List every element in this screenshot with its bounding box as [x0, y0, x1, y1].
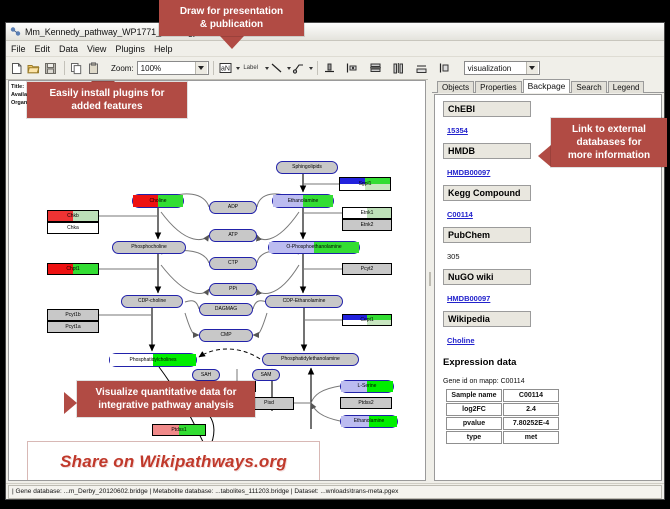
- share-banner: Share on Wikipathways.org: [27, 441, 320, 481]
- table-cell-key: type: [446, 431, 502, 444]
- db-link-nugowiki[interactable]: HMDB00097: [447, 294, 490, 303]
- toolbar-separator: [317, 61, 318, 75]
- pathway-node-ethanolamine_top[interactable]: Ethanolamine: [272, 194, 334, 208]
- pathway-node-label: Cept1: [360, 318, 373, 323]
- table-row: pvalue 7.80252E-4: [446, 417, 559, 430]
- pathway-node-ethanolamine_right[interactable]: Ethanolamine: [340, 415, 398, 428]
- pathway-node-label: Chpt1: [66, 267, 79, 272]
- pathway-node-label: SAH: [201, 373, 211, 378]
- callout-draw: Draw for presentation & publication: [159, 0, 304, 36]
- window-titlebar: Mm_Kennedy_pathway_WP1771_45176.gpml: [6, 23, 664, 41]
- pathway-node-o_phosphoethanolamine[interactable]: O-Phosphoethanolamine: [268, 241, 360, 254]
- toolbar-separator: [213, 61, 214, 75]
- copy-icon[interactable]: [69, 60, 84, 76]
- pathway-node-label: ADP: [228, 205, 238, 210]
- pathway-node-etnk2[interactable]: Etnk2: [342, 219, 392, 231]
- pathway-node-label: Sphingolipids: [292, 165, 322, 170]
- pathway-node-label: Pcyt1a: [65, 325, 80, 330]
- visualization-combo[interactable]: visualization: [464, 61, 540, 75]
- common-height-icon[interactable]: [437, 60, 452, 76]
- pathway-node-sah[interactable]: SAH: [192, 369, 220, 381]
- pathway-node-label: Chkb: [67, 214, 79, 219]
- callout-link-line2: databases for: [559, 136, 659, 149]
- pathway-node-label: Ptdss1: [171, 428, 186, 433]
- tab-objects[interactable]: Objects: [437, 81, 474, 93]
- side-panel-tabs: Objects Properties Backpage Search Legen…: [432, 78, 664, 93]
- stack-vertical-icon[interactable]: [368, 60, 383, 76]
- pathway-node-label: Etnk1: [361, 211, 374, 216]
- pathway-node-chka[interactable]: Chka: [47, 222, 99, 234]
- table-row: log2FC 2.4: [446, 403, 559, 416]
- table-cell-key: pvalue: [446, 417, 502, 430]
- common-width-icon[interactable]: [414, 60, 429, 76]
- pathway-canvas[interactable]: Title: Availab Organis: [8, 80, 426, 481]
- table-row: Sample name C00114: [446, 389, 559, 402]
- menu-view[interactable]: View: [87, 44, 106, 54]
- db-header-chebi: ChEBI: [443, 101, 531, 117]
- pathway-node-dagmag[interactable]: DAGMAG: [199, 303, 253, 316]
- db-link-chebi[interactable]: 15354: [447, 126, 468, 135]
- pathway-node-label: Sgpl1: [359, 182, 372, 187]
- new-document-icon[interactable]: [9, 60, 24, 76]
- callout-link: Link to external databases for more info…: [551, 118, 667, 167]
- callout-draw-line2: & publication: [167, 18, 296, 31]
- pathway-node-label: Chka: [67, 226, 79, 231]
- gene-id-line: Gene id on mapp: C00114: [443, 378, 661, 385]
- toolbar: Zoom: 100% aN Label: [6, 57, 664, 80]
- panel-splitter[interactable]: [428, 78, 432, 483]
- tab-search[interactable]: Search: [571, 81, 606, 93]
- table-cell-key: Sample name: [446, 389, 502, 402]
- datanode-icon[interactable]: aN: [218, 60, 233, 76]
- pathway-node-chpt1[interactable]: Chpt1: [47, 263, 99, 275]
- chevron-down-icon[interactable]: [195, 62, 207, 74]
- callout-visualize-line2: integrative pathway analysis: [85, 399, 247, 412]
- pathway-node-label: Phosphatidylethanolamine: [281, 357, 340, 362]
- floppy-disk-icon[interactable]: [43, 60, 58, 76]
- db-header-wikipedia: Wikipedia: [443, 311, 531, 327]
- table-cell-value: 2.4: [503, 403, 559, 416]
- table-row: type met: [446, 431, 559, 444]
- pathway-node-label: Pisd: [264, 401, 274, 406]
- pathway-node-label: Ethanolamine: [354, 419, 385, 424]
- tab-backpage[interactable]: Backpage: [523, 79, 571, 93]
- pathway-node-sphingolipids[interactable]: Sphingolipids: [276, 161, 338, 174]
- interaction-icon[interactable]: [291, 60, 306, 76]
- menu-data[interactable]: Data: [59, 44, 78, 54]
- statusbar-text: | Gene database: ...m_Derby_20120602.bri…: [8, 485, 662, 499]
- db-header-nugowiki: NuGO wiki: [443, 269, 531, 285]
- table-cell-value: 7.80252E-4: [503, 417, 559, 430]
- callout-link-line3: more information: [559, 149, 659, 162]
- pathway-node-label: Pcyt1b: [65, 313, 80, 318]
- pathway-node-cdp_choline[interactable]: CDP-choline: [121, 295, 183, 308]
- pathway-node-label: CDP-Ethanolamine: [283, 299, 326, 304]
- pathway-node-label: CTP: [228, 261, 238, 266]
- pathway-node-etnk1[interactable]: Etnk1: [342, 207, 392, 219]
- menu-file[interactable]: File: [11, 44, 26, 54]
- interaction-dropdown-icon[interactable]: [309, 67, 313, 70]
- stack-horizontal-icon[interactable]: [391, 60, 406, 76]
- pathway-node-sam[interactable]: SAM: [252, 369, 280, 381]
- pathway-node-label: L-Serine: [358, 384, 377, 389]
- pathway-node-label: Choline: [150, 199, 167, 204]
- chevron-down-icon[interactable]: [526, 62, 538, 74]
- menubar: File Edit Data View Plugins Help: [6, 41, 664, 57]
- pathway-node-label: O-Phosphoethanolamine: [286, 245, 341, 250]
- db-link-hmdb[interactable]: HMDB00097: [447, 168, 490, 177]
- db-value-pubchem: 305: [447, 252, 460, 261]
- pathway-node-label: CMP: [220, 333, 231, 338]
- pathway-node-label: Phosphatidylcholines: [130, 358, 177, 363]
- callout-plugins-line2: added features: [35, 100, 179, 113]
- menu-help[interactable]: Help: [154, 44, 173, 54]
- db-link-kegg[interactable]: C00114: [447, 210, 473, 219]
- pathway-node-pcyt1a[interactable]: Pcyt1a: [47, 321, 99, 333]
- pathway-node-label: DAGMAG: [215, 307, 237, 312]
- callout-draw-arrow-icon: [220, 36, 244, 49]
- expression-table: Sample name C00114 log2FC 2.4 pvalue 7.8…: [445, 388, 560, 445]
- callout-link-line1: Link to external: [559, 123, 659, 136]
- align-top-icon[interactable]: [322, 60, 337, 76]
- pathway-node-ptdss2[interactable]: Ptdss2: [340, 397, 392, 409]
- menu-edit[interactable]: Edit: [35, 44, 51, 54]
- pathway-node-ppi[interactable]: PPi: [209, 283, 257, 296]
- expression-data-title: Expression data: [443, 357, 661, 368]
- db-link-wikipedia[interactable]: Choline: [447, 336, 475, 345]
- pathway-node-adp[interactable]: ADP: [209, 201, 257, 214]
- pathway-node-chkb[interactable]: Chkb: [47, 210, 99, 222]
- table-cell-value: met: [503, 431, 559, 444]
- pathway-node-label: PPi: [229, 287, 237, 292]
- db-header-hmdb: HMDB: [443, 143, 531, 159]
- pathway-node-cmp[interactable]: CMP: [199, 329, 253, 342]
- pathway-node-pcyt2[interactable]: Pcyt2: [342, 263, 392, 275]
- toolbar-separator: [64, 61, 65, 75]
- pathway-node-cept1[interactable]: Cept1: [342, 314, 392, 326]
- callout-draw-line1: Draw for presentation: [167, 5, 296, 18]
- callout-visualize-line1: Visualize quantitative data for: [85, 386, 247, 399]
- pathway-node-phosphocholine[interactable]: Phosphocholine: [112, 241, 186, 254]
- pathway-node-label: ATP: [228, 233, 237, 238]
- tab-legend[interactable]: Legend: [608, 81, 645, 93]
- pathvisio-icon: [10, 26, 21, 37]
- line-icon[interactable]: [269, 60, 284, 76]
- visualization-value: visualization: [468, 64, 512, 73]
- pathway-node-label: Ethanolamine: [288, 199, 319, 204]
- align-left-icon[interactable]: [345, 60, 360, 76]
- pathway-node-ptdss1[interactable]: Ptdss1: [152, 424, 206, 436]
- pathway-node-label: Phosphocholine: [131, 245, 167, 250]
- pathway-node-pcyt1b[interactable]: Pcyt1b: [47, 309, 99, 321]
- table-cell-key: log2FC: [446, 403, 502, 416]
- menu-plugins[interactable]: Plugins: [115, 44, 145, 54]
- pathway-node-label: Pcyt2: [361, 267, 374, 272]
- pathway-node-atp1[interactable]: ATP: [209, 229, 257, 242]
- zoom-combo[interactable]: 100%: [137, 61, 209, 75]
- pathway-node-label: CDP-choline: [138, 299, 166, 304]
- pathway-node-label: Ptdss2: [358, 401, 373, 406]
- callout-visualize: Visualize quantitative data for integrat…: [77, 381, 255, 417]
- db-header-pubchem: PubChem: [443, 227, 531, 243]
- clipboard-icon[interactable]: [86, 60, 101, 76]
- open-folder-icon[interactable]: [26, 60, 41, 76]
- zoom-label: Zoom:: [111, 64, 134, 73]
- callout-visualize-arrow-icon: [64, 392, 77, 414]
- pathway-node-ctp[interactable]: CTP: [209, 257, 257, 270]
- callout-plugins-line1: Easily install plugins for: [35, 87, 179, 100]
- screenshot-root: Mm_Kennedy_pathway_WP1771_45176.gpml Fil…: [0, 0, 670, 509]
- pathway-node-choline_top[interactable]: Choline: [132, 194, 184, 208]
- pathway-node-sgpl1[interactable]: Sgpl1: [339, 177, 391, 191]
- pathway-node-label: SAM: [261, 373, 272, 378]
- db-header-kegg: Kegg Compound: [443, 185, 531, 201]
- pathway-node-phosphatidylethanolamine[interactable]: Phosphatidylethanolamine: [262, 353, 359, 366]
- table-cell-value: C00114: [503, 389, 559, 402]
- pathway-node-l_serine_right[interactable]: L-Serine: [340, 380, 394, 393]
- zoom-value: 100%: [141, 64, 161, 73]
- pathway-node-phosphatidylcholines[interactable]: Phosphatidylcholines: [109, 353, 197, 367]
- svg-text:aN: aN: [221, 65, 230, 72]
- statusbar: | Gene database: ...m_Derby_20120602.bri…: [6, 483, 664, 499]
- callout-plugins: Easily install plugins for added feature…: [27, 82, 187, 118]
- pathway-node-label: Etnk2: [361, 223, 374, 228]
- tab-properties[interactable]: Properties: [475, 81, 521, 93]
- pathvisio-window: Mm_Kennedy_pathway_WP1771_45176.gpml Fil…: [5, 22, 665, 500]
- pathway-node-cdp_ethanolamine[interactable]: CDP-Ethanolamine: [265, 295, 343, 308]
- label-icon[interactable]: Label: [240, 60, 262, 76]
